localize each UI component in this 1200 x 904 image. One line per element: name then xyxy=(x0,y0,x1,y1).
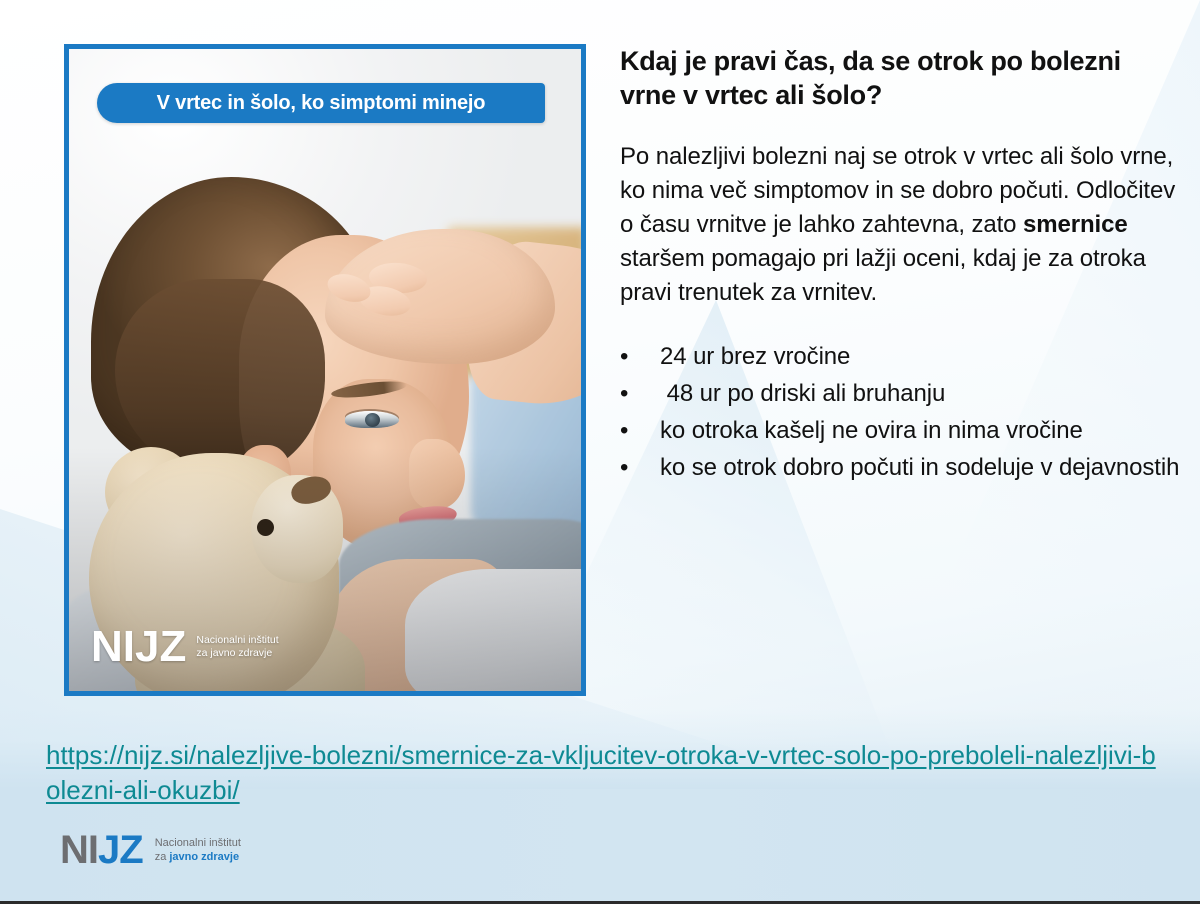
bullet-dot-icon: • xyxy=(620,414,660,449)
source-link[interactable]: https://nijz.si/nalezljive-bolezni/smern… xyxy=(46,738,1166,808)
child-in-bed-photo xyxy=(69,49,581,691)
list-item-label: ko otroka kašelj ne ovira in nima vročin… xyxy=(660,414,1180,449)
footer-nijz-logo: NIJZ Nacionalni inštitut za javno zdravj… xyxy=(60,830,241,870)
list-item: • ko otroka kašelj ne ovira in nima vroč… xyxy=(620,414,1180,449)
intro-paragraph: Po nalezljivi bolezni naj se otrok v vrt… xyxy=(620,140,1180,310)
footer-logo-tagline-bold: javno zdravje xyxy=(169,851,239,863)
footer-logo-tagline: Nacionalni inštitut za javno zdravje xyxy=(155,836,241,865)
footer-logo-tagline-line1: Nacionalni inštitut xyxy=(155,837,241,849)
footer-logo-mark: NIJZ xyxy=(60,830,143,870)
list-item-label: 48 ur po driski ali bruhanju xyxy=(660,377,1180,412)
photo-logo-tagline: Nacionalni inštitut za javno zdravje xyxy=(196,634,278,660)
slide-canvas: V vrtec in šolo, ko simptomi minejo NIJZ… xyxy=(0,0,1200,904)
list-item-label: 24 ur brez vročine xyxy=(660,340,1180,375)
photo-banner: V vrtec in šolo, ko simptomi minejo xyxy=(97,83,545,123)
footer-logo-tagline-line2: za javno zdravje xyxy=(155,851,239,863)
bullet-dot-icon: • xyxy=(620,340,660,375)
paragraph-bold-smernice: smernice xyxy=(1023,211,1128,238)
photo-nijz-logo: NIJZ Nacionalni inštitut za javno zdravj… xyxy=(91,625,279,669)
photo-banner-label: V vrtec in šolo, ko simptomi minejo xyxy=(157,92,486,115)
photo-vignette xyxy=(69,49,581,691)
footer-logo-tagline-prefix: za xyxy=(155,851,170,863)
content-column: Kdaj je pravi čas, da se otrok po bolezn… xyxy=(620,44,1180,488)
paragraph-text-2: staršem pomagajo pri lažji oceni, kdaj j… xyxy=(620,245,1146,306)
bullet-dot-icon: • xyxy=(620,451,660,486)
footer-logo-mark-ni: NI xyxy=(60,828,98,872)
photo-logo-mark: NIJZ xyxy=(91,625,186,669)
list-item: • 24 ur brez vročine xyxy=(620,340,1180,375)
photo-logo-tagline-line1: Nacionalni inštitut xyxy=(196,634,278,646)
page-title: Kdaj je pravi čas, da se otrok po bolezn… xyxy=(620,44,1180,112)
photo-card: V vrtec in šolo, ko simptomi minejo NIJZ… xyxy=(64,44,586,696)
criteria-list: • 24 ur brez vročine • 48 ur po driski a… xyxy=(620,340,1180,485)
list-item-label: ko se otrok dobro počuti in sodeluje v d… xyxy=(660,451,1180,486)
list-item: • ko se otrok dobro počuti in sodeluje v… xyxy=(620,451,1180,486)
footer-logo-mark-jz: JZ xyxy=(98,828,143,872)
bullet-dot-icon: • xyxy=(620,377,660,412)
photo-logo-tagline-line2: za javno zdravje xyxy=(196,647,272,659)
list-item: • 48 ur po driski ali bruhanju xyxy=(620,377,1180,412)
